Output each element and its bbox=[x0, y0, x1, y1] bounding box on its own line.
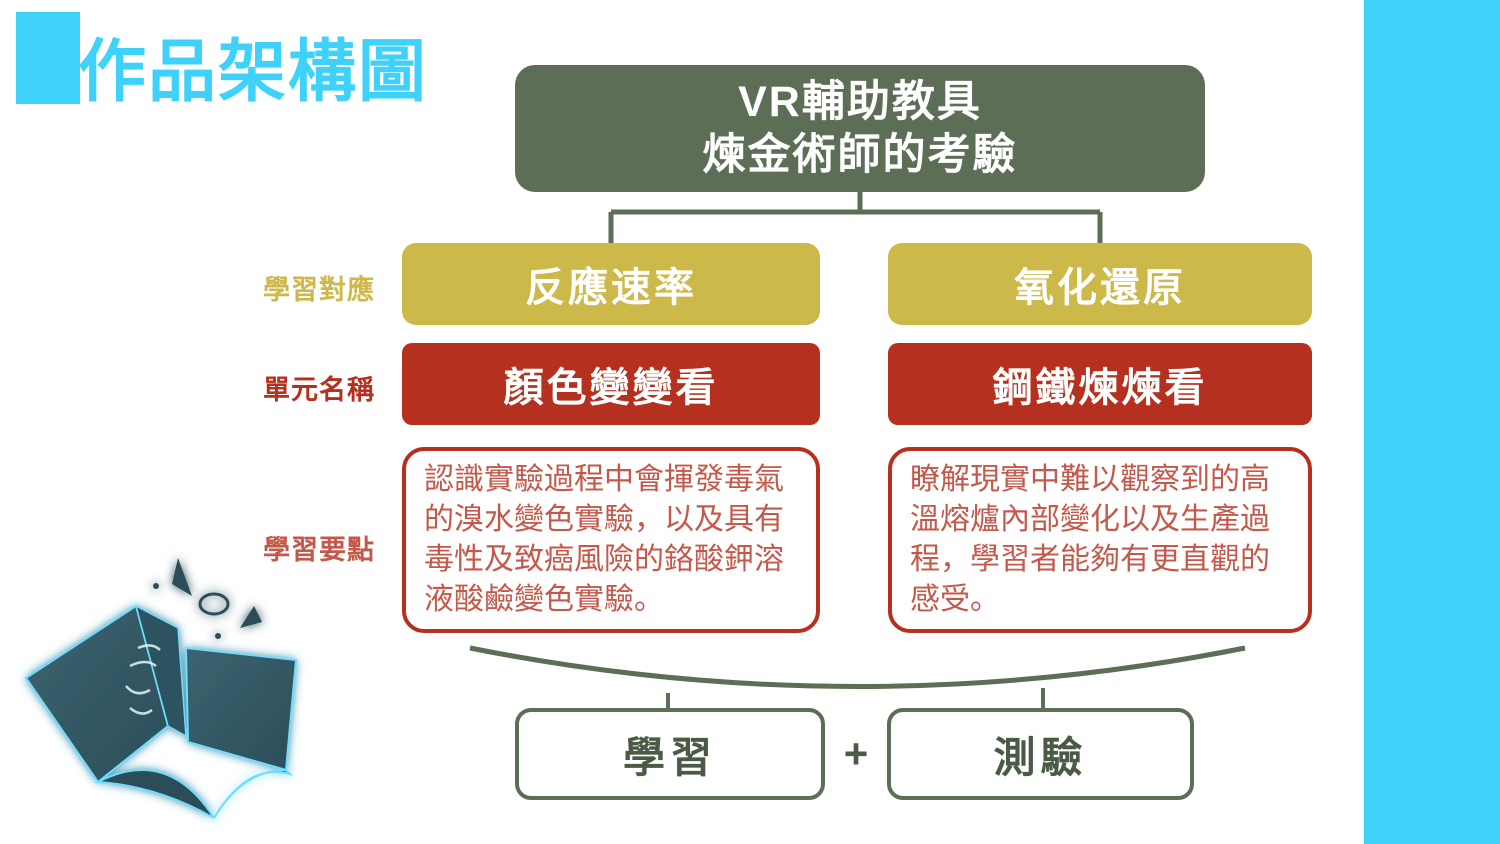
row-label-learning-topic: 學習對應 bbox=[180, 268, 375, 307]
points-box-right[interactable]: 瞭解現實中難以觀察到的高溫熔爐內部變化以及生產過程，學習者能夠有更直觀的感受。 bbox=[888, 447, 1312, 633]
open-book-icon bbox=[18, 530, 308, 840]
topic-box-right[interactable]: 氧化還原 bbox=[888, 243, 1312, 325]
topic-box-left[interactable]: 反應速率 bbox=[402, 243, 820, 325]
output-box-learning[interactable]: 學習 bbox=[515, 708, 825, 800]
row-label-learning-points: 學習要點 bbox=[180, 528, 375, 567]
slide-canvas: 作品架構圖 學習對應 單元名稱 學習要 bbox=[0, 0, 1500, 844]
diagram-root-node[interactable]: VR輔助教具 煉金術師的考驗 bbox=[515, 65, 1205, 192]
brand-sidebar: 2023 XR VIRTUAL REALITY CREATIVITY COMPE… bbox=[1364, 0, 1500, 844]
root-title-line2: 煉金術師的考驗 bbox=[703, 129, 1018, 181]
root-title-line1: VR輔助教具 bbox=[738, 76, 982, 128]
row-label-unit-name: 單元名稱 bbox=[180, 368, 375, 407]
output-joiner-plus: + bbox=[825, 708, 887, 800]
title-accent-swatch bbox=[16, 12, 80, 104]
unit-box-left[interactable]: 顏色變變看 bbox=[402, 343, 820, 425]
unit-box-right[interactable]: 鋼鐵煉煉看 bbox=[888, 343, 1312, 425]
output-box-quiz[interactable]: 測驗 bbox=[887, 708, 1194, 800]
page-title: 作品架構圖 bbox=[78, 16, 428, 115]
points-box-left[interactable]: 認識實驗過程中會揮發毒氣的溴水變色實驗，以及具有毒性及致癌風險的鉻酸鉀溶液酸鹼變… bbox=[402, 447, 820, 633]
